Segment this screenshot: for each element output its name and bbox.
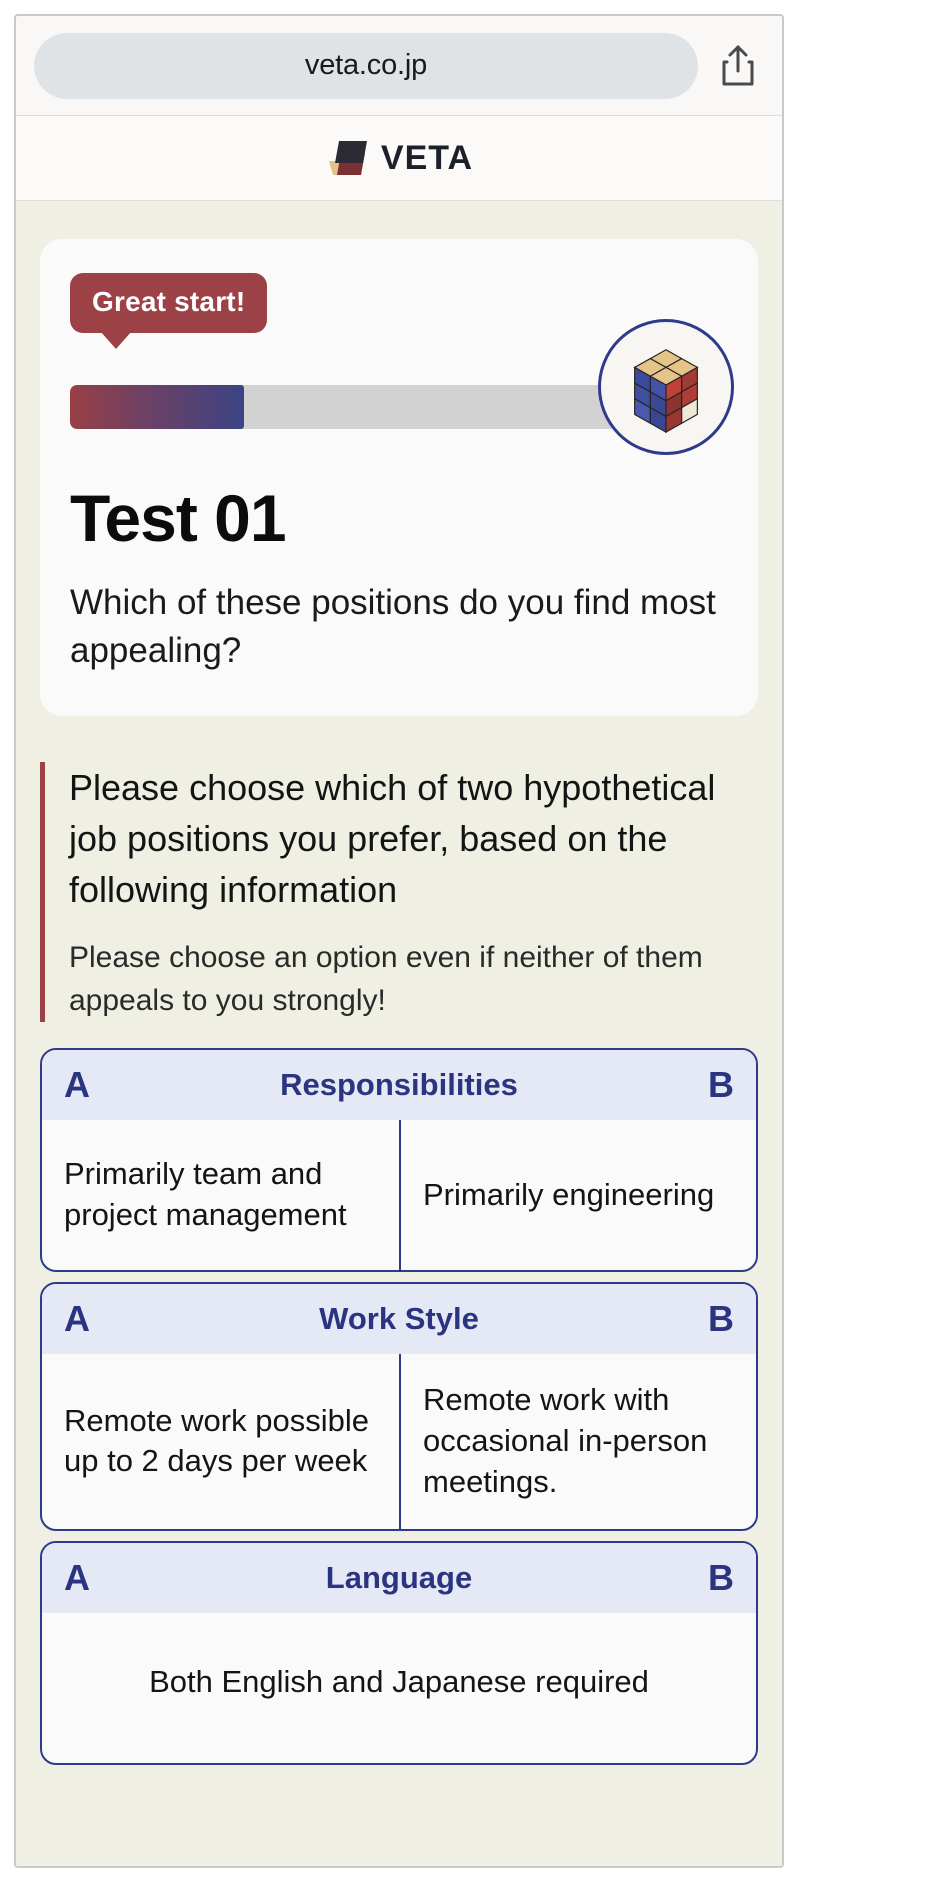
comparison-body: Both English and Japanese required bbox=[42, 1613, 756, 1763]
comparison-block-responsibilities[interactable]: A Responsibilities B Primarily team and … bbox=[40, 1048, 758, 1272]
comparison-header: A Language B bbox=[42, 1543, 756, 1613]
site-header: VETA bbox=[16, 116, 782, 201]
badge-label: Great start! bbox=[70, 273, 267, 333]
progress-bar-fill bbox=[70, 385, 244, 429]
option-b-cell[interactable]: Primarily engineering bbox=[399, 1120, 756, 1270]
option-b-label: B bbox=[708, 1064, 734, 1106]
option-a-cell[interactable]: Remote work possible up to 2 days per we… bbox=[42, 1354, 399, 1529]
comparison-body: Primarily team and project management Pr… bbox=[42, 1120, 756, 1270]
option-b-label: B bbox=[708, 1298, 734, 1340]
option-a-label: A bbox=[64, 1298, 90, 1340]
veta-logo-mark-icon bbox=[325, 139, 371, 177]
progress-row bbox=[70, 381, 728, 433]
comparison-list: A Responsibilities B Primarily team and … bbox=[40, 1048, 758, 1765]
comparison-body: Remote work possible up to 2 days per we… bbox=[42, 1354, 756, 1529]
page-content: Great start! bbox=[16, 201, 782, 1866]
comparison-block-language[interactable]: A Language B Both English and Japanese r… bbox=[40, 1541, 758, 1765]
encouragement-badge: Great start! bbox=[70, 273, 267, 333]
option-a-label: A bbox=[64, 1064, 90, 1106]
brand-name: VETA bbox=[381, 139, 473, 178]
option-a-cell[interactable]: Both English and Japanese required bbox=[42, 1613, 756, 1763]
comparison-block-work-style[interactable]: A Work Style B Remote work possible up t… bbox=[40, 1282, 758, 1531]
quiz-question: Which of these positions do you find mos… bbox=[70, 579, 728, 676]
comparison-header: A Work Style B bbox=[42, 1284, 756, 1354]
option-b-cell[interactable]: Remote work with occasional in-person me… bbox=[399, 1354, 756, 1529]
comparison-category: Work Style bbox=[90, 1301, 708, 1337]
instructions-sub-text: Please choose an option even if neither … bbox=[69, 937, 758, 1022]
share-icon[interactable] bbox=[712, 37, 764, 95]
option-a-label: A bbox=[64, 1557, 90, 1599]
comparison-category: Language bbox=[90, 1560, 708, 1596]
badge-tail bbox=[100, 331, 132, 349]
mobile-browser-window: veta.co.jp VETA Great start! bbox=[14, 14, 784, 1868]
rubiks-cube-icon bbox=[598, 319, 734, 455]
page-title: Test 01 bbox=[70, 485, 728, 551]
instructions-block: Please choose which of two hypothetical … bbox=[40, 762, 758, 1023]
instructions-main-text: Please choose which of two hypothetical … bbox=[69, 762, 758, 915]
url-text: veta.co.jp bbox=[305, 49, 427, 82]
comparison-category: Responsibilities bbox=[90, 1067, 708, 1103]
option-b-label: B bbox=[708, 1557, 734, 1599]
comparison-header: A Responsibilities B bbox=[42, 1050, 756, 1120]
option-a-cell[interactable]: Primarily team and project management bbox=[42, 1120, 399, 1270]
quiz-card: Great start! bbox=[40, 239, 758, 716]
url-input[interactable]: veta.co.jp bbox=[34, 33, 698, 99]
browser-address-bar: veta.co.jp bbox=[16, 16, 782, 116]
